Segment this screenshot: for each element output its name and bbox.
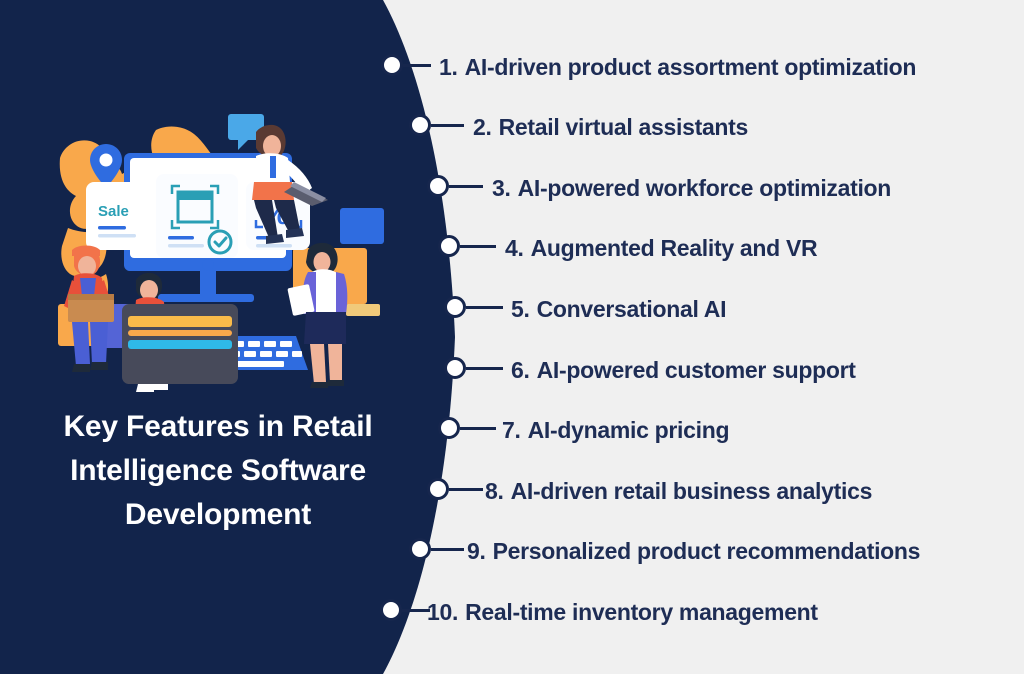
- feature-item-text: 9.Personalized product recommendations: [467, 540, 920, 563]
- feature-item-number: 8.: [485, 478, 504, 504]
- connector-line: [466, 306, 503, 309]
- connector-line: [449, 488, 483, 491]
- feature-item-2[interactable]: 2.Retail virtual assistants: [0, 108, 1024, 142]
- feature-item-text: 4.Augmented Reality and VR: [505, 237, 817, 260]
- feature-item-label: Retail virtual assistants: [499, 114, 748, 140]
- connector-line: [403, 64, 431, 67]
- node-marker-icon[interactable]: [438, 235, 460, 257]
- feature-item-number: 4.: [505, 235, 524, 261]
- node-marker-icon[interactable]: [409, 114, 431, 136]
- node-marker-icon[interactable]: [380, 599, 402, 621]
- connector-line: [431, 124, 464, 127]
- svg-text:Sale: Sale: [98, 203, 129, 220]
- feature-item-10[interactable]: 10.Real-time inventory management: [0, 593, 1024, 627]
- connector-line: [449, 185, 483, 188]
- feature-item-7[interactable]: 7.AI-dynamic pricing: [0, 411, 1024, 445]
- feature-item-text: 7.AI-dynamic pricing: [502, 419, 729, 442]
- feature-item-text: 3.AI-powered workforce optimization: [492, 177, 891, 200]
- feature-item-4[interactable]: 4.Augmented Reality and VR: [0, 229, 1024, 263]
- feature-item-label: AI-driven product assortment optimizatio…: [465, 54, 917, 80]
- feature-item-text: 6.AI-powered customer support: [511, 359, 856, 382]
- feature-item-label: AI-powered customer support: [537, 357, 856, 383]
- feature-item-label: Conversational AI: [537, 296, 727, 322]
- feature-item-label: Augmented Reality and VR: [531, 235, 818, 261]
- node-marker-icon[interactable]: [444, 357, 466, 379]
- connector-line: [402, 609, 430, 612]
- connector-line: [466, 367, 503, 370]
- feature-item-label: Real-time inventory management: [465, 599, 818, 625]
- feature-item-text: 5.Conversational AI: [511, 298, 726, 321]
- feature-item-6[interactable]: 6.AI-powered customer support: [0, 351, 1024, 385]
- feature-item-label: Personalized product recommendations: [493, 538, 921, 564]
- feature-item-label: AI-driven retail business analytics: [511, 478, 872, 504]
- feature-item-number: 9.: [467, 538, 486, 564]
- connector-line: [460, 427, 496, 430]
- connector-line: [431, 548, 464, 551]
- infographic-canvas: Sale: [0, 0, 1024, 674]
- feature-item-number: 1.: [439, 54, 458, 80]
- feature-item-text: 2.Retail virtual assistants: [473, 116, 748, 139]
- feature-item-8[interactable]: 8.AI-driven retail business analytics: [0, 472, 1024, 506]
- feature-item-5[interactable]: 5.Conversational AI: [0, 290, 1024, 324]
- feature-item-label: AI-dynamic pricing: [528, 417, 730, 443]
- node-marker-icon[interactable]: [409, 538, 431, 560]
- feature-item-1[interactable]: 1.AI-driven product assortment optimizat…: [0, 48, 1024, 82]
- feature-item-number: 2.: [473, 114, 492, 140]
- feature-item-9[interactable]: 9.Personalized product recommendations: [0, 532, 1024, 566]
- node-marker-icon[interactable]: [444, 296, 466, 318]
- feature-item-3[interactable]: 3.AI-powered workforce optimization: [0, 169, 1024, 203]
- node-marker-icon[interactable]: [427, 478, 449, 500]
- feature-item-number: 10.: [427, 599, 458, 625]
- node-marker-icon[interactable]: [438, 417, 460, 439]
- feature-item-text: 1.AI-driven product assortment optimizat…: [439, 56, 916, 79]
- node-marker-icon[interactable]: [381, 54, 403, 76]
- feature-item-label: AI-powered workforce optimization: [518, 175, 891, 201]
- feature-item-number: 6.: [511, 357, 530, 383]
- feature-item-number: 7.: [502, 417, 521, 443]
- feature-item-text: 8.AI-driven retail business analytics: [485, 480, 872, 503]
- feature-item-number: 3.: [492, 175, 511, 201]
- node-marker-icon[interactable]: [427, 175, 449, 197]
- feature-item-text: 10.Real-time inventory management: [427, 601, 818, 624]
- feature-item-number: 5.: [511, 296, 530, 322]
- connector-line: [460, 245, 496, 248]
